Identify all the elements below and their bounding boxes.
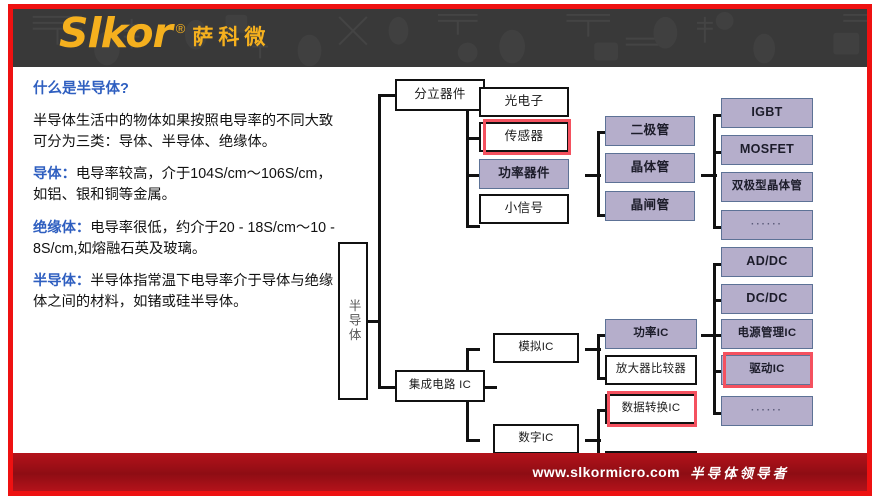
node-discrete-devices[interactable]: 分立器件 — [395, 79, 485, 111]
node-power-device[interactable]: 功率器件 — [479, 159, 569, 189]
connector — [713, 114, 716, 229]
node-driver-ic[interactable]: 驱动IC — [721, 355, 813, 385]
node-diode[interactable]: 二极管 — [605, 116, 695, 146]
node-transistor-more[interactable]: ······ — [721, 210, 813, 240]
connector — [378, 94, 396, 97]
node-analog-ic[interactable]: 模拟IC — [493, 333, 579, 363]
node-amplifier-comparator[interactable]: 放大器比较器 — [605, 355, 697, 385]
node-ad-dc[interactable]: AD/DC — [721, 247, 813, 277]
slide: Slkor ® 萨科微 什么是半导体? 半导体生活中的物体如果按照电导率的不同大… — [8, 4, 872, 496]
node-bipolar-transistor[interactable]: 双极型晶体管 — [721, 172, 813, 202]
node-thyristor[interactable]: 晶闸管 — [605, 191, 695, 221]
connector — [466, 102, 469, 228]
footer-tagline: 半导体领导者 — [690, 462, 789, 482]
logo-text: Slkor — [59, 13, 172, 54]
footer-content: www.slkormicro.com 半导体领导者 — [532, 462, 789, 482]
connector — [597, 334, 600, 380]
node-sensor[interactable]: 传感器 — [479, 122, 569, 152]
footer-bar: www.slkormicro.com 半导体领导者 — [13, 453, 867, 491]
logo-chinese-name: 萨科微 — [192, 21, 270, 51]
node-dc-dc[interactable]: DC/DC — [721, 284, 813, 314]
logo: Slkor ® 萨科微 — [59, 13, 270, 54]
connector — [466, 348, 480, 351]
connector — [378, 94, 381, 323]
node-power-management-ic[interactable]: 电源管理IC — [721, 319, 813, 349]
connector — [713, 263, 716, 415]
registered-mark-icon: ® — [176, 21, 186, 36]
connector — [466, 439, 480, 442]
connector — [378, 320, 381, 387]
footer-url[interactable]: www.slkormicro.com — [532, 464, 680, 480]
node-integrated-circuit[interactable]: 集成电路 IC — [395, 370, 485, 402]
node-optoelectronics[interactable]: 光电子 — [479, 87, 569, 117]
node-digital-ic[interactable]: 数字IC — [493, 424, 579, 454]
connector — [597, 131, 600, 217]
connector — [466, 225, 480, 228]
connector — [466, 137, 480, 140]
header-banner: Slkor ® 萨科微 — [13, 9, 867, 67]
node-small-signal[interactable]: 小信号 — [479, 194, 569, 224]
connector — [483, 386, 497, 389]
node-data-conversion-ic[interactable]: 数据转换IC — [605, 394, 697, 424]
node-power-ic-more[interactable]: ······ — [721, 396, 813, 426]
node-igbt[interactable]: IGBT — [721, 98, 813, 128]
node-power-ic[interactable]: 功率IC — [605, 319, 697, 349]
node-mosfet[interactable]: MOSFET — [721, 135, 813, 165]
connector — [466, 174, 480, 177]
node-root-semiconductor[interactable]: 半导体 — [338, 242, 368, 400]
node-transistor[interactable]: 晶体管 — [605, 153, 695, 183]
connector — [378, 386, 396, 389]
semiconductor-tree-diagram: 半导体 分立器件 集成电路 IC 光电子 传感器 功率器件 小信号 二极管 晶体… — [13, 67, 867, 463]
